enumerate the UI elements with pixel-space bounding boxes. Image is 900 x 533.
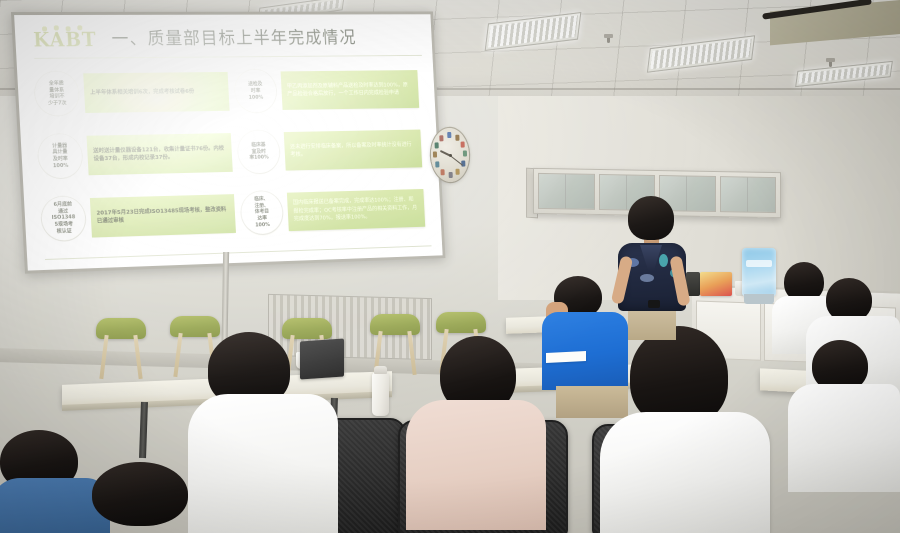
- stool-leg: [173, 333, 182, 377]
- attendee-head: [92, 462, 188, 526]
- attendee-shirt: [600, 412, 770, 533]
- metric-bubble: 6月底前 通过 ISO1348 5现场考 核认证: [40, 195, 88, 242]
- bubble-line: 率100%: [249, 155, 269, 162]
- metric-detail-text: 上半年体系相关培训6次，完成考核试卷6份: [90, 88, 223, 98]
- attendee-front-center-beige: [398, 336, 548, 526]
- presentation-slide: KABT 一、质量部目标上半年完成情况 全年质 量体系 培训不 少于7次: [14, 14, 443, 270]
- sprinkler-head-1: [604, 34, 613, 38]
- slide-row: 全年质 量体系 培训不 少于7次 上半年体系相关培训6次，完成考核试卷6份: [33, 60, 426, 126]
- projection-screen: KABT 一、质量部目标上半年完成情况 全年质 量体系 培训不 少于7次: [11, 11, 445, 273]
- attendee-shirt: [406, 400, 546, 530]
- clock-center-pin: [448, 153, 451, 156]
- attendee-front-left-white: [188, 332, 338, 532]
- title-divider: [34, 55, 422, 59]
- bubble-line: 100%: [249, 94, 264, 101]
- slide-content-rows: 全年质 量体系 培训不 少于7次 上半年体系相关培训6次，完成考核试卷6份: [33, 60, 432, 250]
- cabinet-glass-pane[interactable]: [538, 173, 595, 210]
- conference-room-photo: KABT 一、质量部目标上半年完成情况 全年质 量体系 培训不 少于7次: [0, 0, 900, 533]
- shirt-pattern: [659, 254, 668, 267]
- cabinet-glass-pane[interactable]: [720, 176, 777, 213]
- bubble-line: 核认证: [57, 228, 72, 235]
- slide-row: 6月底前 通过 ISO1348 5现场考 核认证 2017年5月23日完成ISO…: [39, 178, 431, 250]
- slide-cell: 临床基 室及时 率100% 还未进行安排临床备案，所以备案及时率统计没有进行考核…: [236, 119, 428, 183]
- stool-leg: [133, 335, 142, 379]
- presenter-pants: [628, 306, 676, 340]
- bar-stool[interactable]: [96, 318, 146, 378]
- company-logo: KABT: [33, 28, 98, 51]
- attendee-shirt: [188, 394, 338, 533]
- metric-detail-box: 送时送计量仪器设备121台，收集计量证书76份。内校设备37台，形成内校记录37…: [87, 133, 233, 175]
- slide-cell: 送检及 时率 100% 甲乙丙添加剂及原辅料产品送检及时率达到100%，原产品检…: [233, 60, 425, 122]
- attendee-right-white-b: [788, 340, 900, 490]
- metric-detail-box: 国内临床报送已备案完成，完成率达100%；注册、和报检完成率；QC考核率中注册产…: [287, 189, 425, 231]
- metric-detail-text: 甲乙丙添加剂及原辅料产品送检及时率达到100%，原产品检验合格后放行，一个工作日…: [287, 82, 414, 99]
- attendee-head: [630, 326, 728, 426]
- metric-bubble: 临床、 注册、 体考目 达率 100%: [239, 190, 284, 236]
- slide-cell: 临床、 注册、 体考目 达率 100% 国内临床报送已备案完成，完成率达100%…: [239, 178, 431, 243]
- metric-bubble: 送检及 时率 100%: [233, 69, 278, 114]
- slide-header: KABT 一、质量部目标上半年完成情况: [31, 24, 422, 59]
- metric-detail-box: 上半年体系相关培训6次，完成考核试卷6份: [83, 72, 229, 113]
- slide-cell: 计量器 具计量 及时率 100% 送时送计量仪器设备121台，收集计量证书76份…: [36, 122, 239, 188]
- bubble-line: 100%: [255, 222, 270, 229]
- bubble-line: 少于7次: [48, 100, 67, 107]
- metric-bubble: 全年质 量体系 培训不 少于7次: [33, 71, 81, 117]
- slide-title: 一、质量部目标上半年完成情况: [111, 25, 357, 50]
- metric-detail-box: 还未进行安排临床备案，所以备案及时率统计没有进行考核。: [284, 130, 422, 171]
- metric-detail-text: 国内临床报送已备案完成，完成率达100%；注册、和报检完成率；QC考核率中注册产…: [293, 196, 420, 223]
- shirt-pattern: [640, 274, 654, 282]
- stool-leg: [99, 335, 108, 379]
- metric-detail-text: 送时送计量仪器设备121台，收集计量证书76份。内校设备37台，形成内校记录37…: [93, 145, 227, 164]
- bubble-line: 100%: [53, 163, 69, 170]
- slide-cell: 全年质 量体系 培训不 少于7次 上半年体系相关培训6次，完成考核试卷6份: [33, 61, 236, 125]
- paper-on-table: [546, 351, 586, 363]
- presenter-hair: [628, 196, 674, 240]
- water-bottle: [372, 372, 389, 416]
- metric-detail-box: 甲乙丙添加剂及原辅料产品送检及时率达到100%，原产品检验合格后放行，一个工作日…: [281, 70, 420, 110]
- slide-row: 计量器 具计量 及时率 100% 送时送计量仪器设备121台，收集计量证书76份…: [36, 119, 428, 188]
- metric-bubble: 计量器 具计量 及时率 100%: [36, 133, 84, 180]
- metric-detail-box: 2017年5月23日完成ISO13485现场考核，整改资料已通过审核: [90, 194, 236, 237]
- sprinkler-head-2: [826, 58, 835, 62]
- slide-cell: 6月底前 通过 ISO1348 5现场考 核认证 2017年5月23日完成ISO…: [39, 183, 242, 250]
- attendee-mid-left-partial: [92, 462, 196, 533]
- presentation-remote[interactable]: [648, 300, 660, 308]
- attendee-shirt: [788, 384, 900, 492]
- attendee-front-right-white: [600, 326, 770, 533]
- metric-detail-text: 2017年5月23日完成ISO13485现场考核，整改资料已通过审核: [96, 205, 229, 225]
- snack-box: [700, 272, 732, 296]
- metric-detail-text: 还未进行安排临床备案，所以备案及时率统计没有进行考核。: [290, 141, 416, 159]
- metric-bubble: 临床基 室及时 率100%: [236, 129, 281, 174]
